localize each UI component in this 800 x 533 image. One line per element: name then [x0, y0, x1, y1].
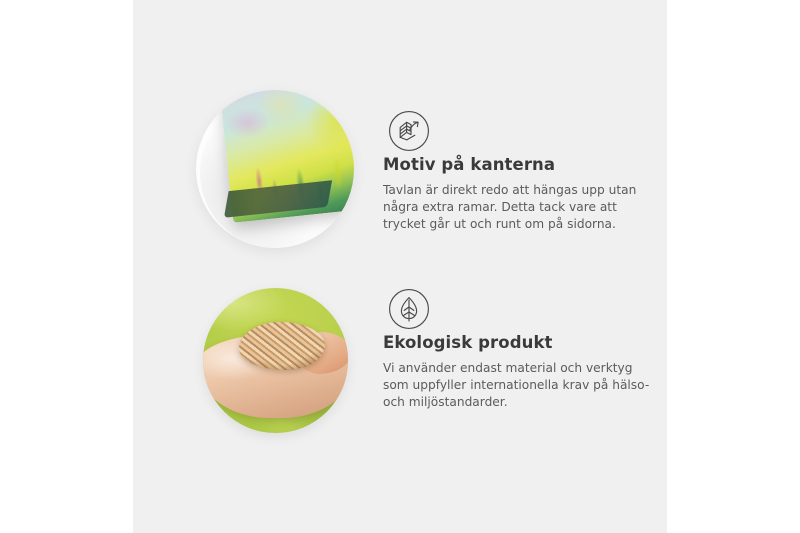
leaf-icon: [388, 288, 430, 330]
hands-holding-wood-chips-photo: [203, 288, 348, 433]
feature-text-block: Motiv på kanterna Tavlan är direkt redo …: [383, 155, 651, 234]
feature-description: Vi använder endast material och verktyg …: [383, 360, 651, 412]
feature-text-block: Ekologisk produkt Vi använder endast mat…: [383, 333, 651, 412]
canvas-print-corner-photo: [196, 90, 354, 248]
feature-description: Tavlan är direkt redo att hängas upp uta…: [383, 182, 651, 234]
feature-title: Motiv på kanterna: [383, 155, 651, 175]
content-panel: Motiv på kanterna Tavlan är direkt redo …: [133, 0, 667, 533]
canvas-wrapped-edge-icon: [388, 110, 430, 152]
product-feature-infographic: Motiv på kanterna Tavlan är direkt redo …: [0, 0, 800, 533]
feature-title: Ekologisk produkt: [383, 333, 651, 353]
wood-chips: [239, 322, 325, 370]
